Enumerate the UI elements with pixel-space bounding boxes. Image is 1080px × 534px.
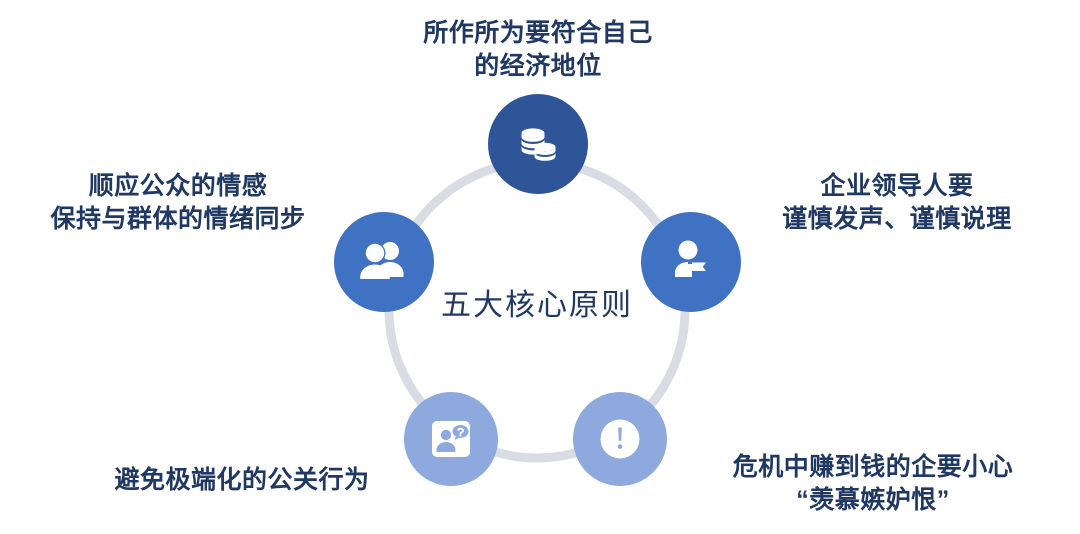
center-title: 五大核心原则 bbox=[380, 288, 694, 324]
label-avoid-extreme-pr: 避免极端化的公关行为 bbox=[72, 464, 412, 497]
node-crisis-profit-warning[interactable] bbox=[573, 392, 667, 486]
node-avoid-extreme-pr[interactable] bbox=[404, 392, 498, 486]
speaker-person-icon bbox=[666, 237, 716, 287]
coins-icon bbox=[514, 120, 562, 168]
people-group-icon bbox=[357, 237, 411, 287]
label-economic-status: 所作所为要符合自己 的经济地位 bbox=[358, 17, 718, 82]
node-economic-status[interactable] bbox=[488, 94, 588, 194]
label-crisis-profit-warning: 危机中赚到钱的企要小心 “羡慕嫉妒恨” bbox=[678, 451, 1068, 516]
person-question-icon bbox=[425, 413, 477, 465]
exclamation-icon bbox=[594, 413, 646, 465]
diagram-canvas: 五大核心原则 所作所为要符合自己 的经济地位 顺应公众的情感 保持与群体的情绪同… bbox=[0, 0, 1080, 534]
label-public-sentiment: 顺应公众的情感 保持与群体的情绪同步 bbox=[8, 170, 348, 235]
label-leader-speech: 企业领导人要 谨慎发声、谨慎说理 bbox=[730, 170, 1064, 235]
